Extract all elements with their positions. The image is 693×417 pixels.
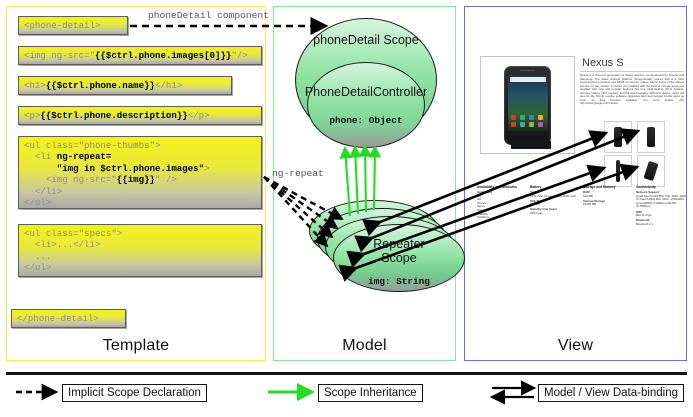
legend-divider	[6, 372, 687, 375]
connector-overlay	[0, 0, 693, 417]
diagram-canvas: Template Model View <phone-detail> <img …	[0, 0, 693, 417]
arrow-data-binding-4	[356, 167, 637, 268]
legend-item-scope-inheritance: Scope Inheritance	[318, 384, 423, 402]
legend-item-implicit-scope-declaration: Implicit Scope Declaration	[62, 384, 207, 402]
arrow-scope-inheritance-1	[345, 148, 350, 216]
arrow-scope-inheritance-4	[374, 147, 375, 210]
arrow-data-binding-2	[372, 131, 638, 238]
arrow-ng-repeat-2	[264, 177, 337, 228]
arrow-scope-inheritance-3	[365, 146, 366, 212]
legend-item-model-view-data-binding: Model / View Data-binding	[538, 384, 684, 402]
arrow-scope-inheritance-2	[355, 147, 358, 214]
arrow-ng-repeat-4	[264, 177, 327, 246]
